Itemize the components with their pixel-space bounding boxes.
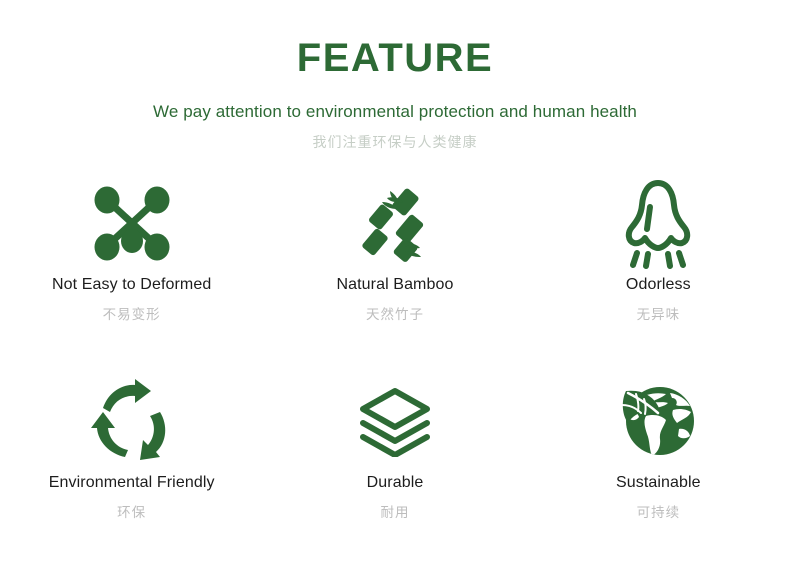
page-title: FEATURE — [0, 36, 790, 80]
recycle-icon — [89, 369, 175, 473]
feature-label-en: Not Easy to Deformed — [52, 275, 211, 294]
subtitle-english: We pay attention to environmental protec… — [0, 102, 790, 122]
feature-label-en: Sustainable — [616, 473, 701, 492]
layers-icon — [357, 369, 433, 473]
section-header: FEATURE We pay attention to environmenta… — [0, 0, 790, 151]
feature-grid: Not Easy to Deformed 不易变形 — [0, 173, 790, 565]
feature-label-cn: 耐用 — [380, 505, 409, 521]
feature-section: FEATURE We pay attention to environmenta… — [0, 0, 790, 576]
feature-item-durable: Durable 耐用 — [263, 369, 526, 565]
feature-label-en: Natural Bamboo — [336, 275, 453, 294]
globe-leaf-icon — [616, 369, 700, 473]
feature-label-cn: 可持续 — [637, 505, 681, 521]
feature-label-cn: 天然竹子 — [366, 307, 424, 323]
feature-label-en: Environmental Friendly — [49, 473, 215, 492]
feature-item-not-easy-to-deformed: Not Easy to Deformed 不易变形 — [0, 173, 263, 369]
feature-label-cn: 环保 — [117, 505, 146, 521]
feature-label-en: Durable — [367, 473, 424, 492]
feature-item-environmental-friendly: Environmental Friendly 环保 — [0, 369, 263, 565]
subtitle-chinese: 我们注重环保与人类健康 — [0, 134, 790, 151]
nose-icon — [622, 173, 694, 273]
molecule-icon — [90, 173, 174, 273]
feature-label-en: Odorless — [626, 275, 691, 294]
bamboo-icon — [357, 173, 433, 273]
feature-item-natural-bamboo: Natural Bamboo 天然竹子 — [263, 173, 526, 369]
feature-label-cn: 无异味 — [637, 307, 681, 323]
feature-item-sustainable: Sustainable 可持续 — [527, 369, 790, 565]
feature-label-cn: 不易变形 — [103, 307, 161, 323]
feature-item-odorless: Odorless 无异味 — [527, 173, 790, 369]
